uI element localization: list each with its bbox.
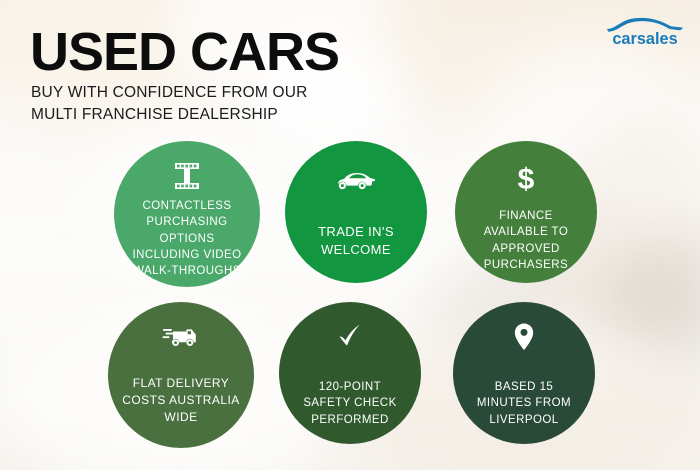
feature-line: LIVERPOOL [477,412,571,428]
dollar-sign-icon: $ [513,161,539,195]
feature-text: TRADE IN'S WELCOME [310,201,402,260]
feature-circle-finance[interactable]: $ FINANCE AVAILABLE TO APPROVED PURCHASE… [455,141,597,283]
feature-line: 120-POINT [303,379,396,395]
feature-line: FINANCE [484,208,568,224]
feature-line: WELCOME [318,241,394,259]
feature-line: COSTS AUSTRALIA [122,392,239,409]
subtitle: BUY WITH CONFIDENCE FROM OUR MULTI FRANC… [31,82,308,126]
feature-line: CONTACTLESS [133,198,242,214]
feature-line: AVAILABLE TO [484,224,568,240]
feature-line: PURCHASING [133,214,242,230]
feature-line: PURCHASERS [484,257,568,273]
used-cars-promo-banner: USED CARS BUY WITH CONFIDENCE FROM OUR M… [0,0,700,470]
svg-text:carsales: carsales [612,30,677,48]
map-pin-icon [513,320,535,354]
feature-circle-flat-delivery[interactable]: FLAT DELIVERY COSTS AUSTRALIA WIDE [108,302,254,448]
svg-text:$: $ [518,163,535,194]
page-title: USED CARS [30,25,339,79]
feature-text: FINANCE AVAILABLE TO APPROVED PURCHASERS [476,199,576,273]
feature-text: 120-POINT SAFETY CHECK PERFORMED [295,358,404,428]
subtitle-line-2: MULTI FRANCHISE DEALERSHIP [31,104,308,126]
feature-circle-contactless-purchasing[interactable]: CONTACTLESS PURCHASING OPTIONS INCLUDING… [114,141,260,287]
feature-line: BASED 15 [477,379,571,395]
checkmark-icon [336,320,364,354]
feature-line: INCLUDING VIDEO [133,247,242,263]
feature-line: TRADE IN'S [318,223,394,241]
delivery-van-icon [162,320,200,354]
feature-circle-trade-ins[interactable]: TRADE IN'S WELCOME [285,141,427,283]
carsales-logo[interactable]: carsales [604,14,686,48]
feature-circle-safety-check[interactable]: 120-POINT SAFETY CHECK PERFORMED [279,302,421,444]
feature-line: SAFETY CHECK [303,395,396,411]
feature-line: FLAT DELIVERY [122,375,239,392]
sports-car-icon [336,163,376,197]
feature-line: WALK-THROUGHS [133,263,242,279]
feature-line: WIDE [122,409,239,426]
feature-line: OPTIONS [133,231,242,247]
feature-line: APPROVED [484,241,568,257]
feature-line: MINUTES FROM [477,395,571,411]
feature-text: CONTACTLESS PURCHASING OPTIONS INCLUDING… [125,197,250,280]
film-strip-icon [172,159,202,193]
feature-text: FLAT DELIVERY COSTS AUSTRALIA WIDE [114,358,247,426]
subtitle-line-1: BUY WITH CONFIDENCE FROM OUR [31,82,308,104]
feature-circle-location[interactable]: BASED 15 MINUTES FROM LIVERPOOL [453,302,595,444]
feature-text: BASED 15 MINUTES FROM LIVERPOOL [469,358,579,428]
feature-line: PERFORMED [303,412,396,428]
